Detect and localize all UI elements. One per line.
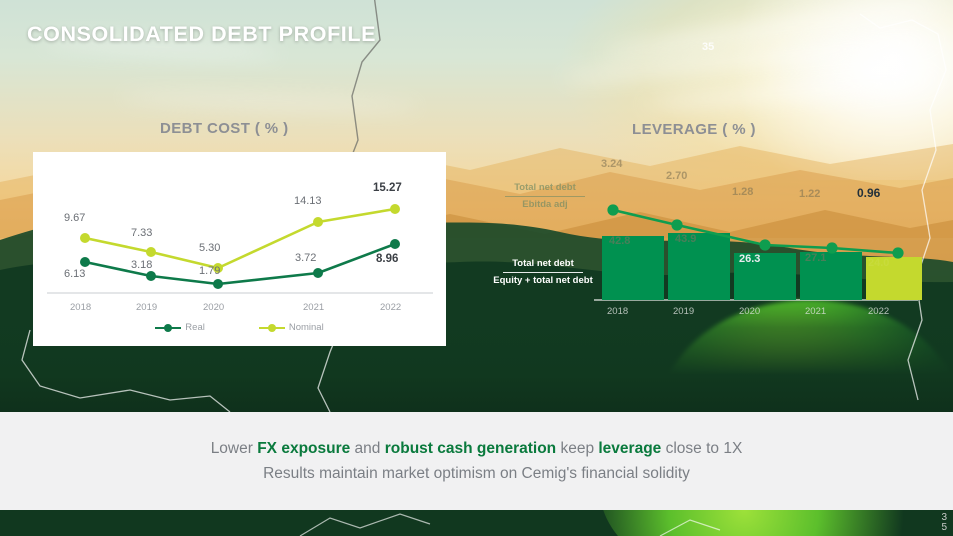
- right-chart-title: LEVERAGE ( % ): [632, 121, 756, 138]
- x-tick-2019: 2019: [136, 302, 157, 313]
- leverage-bar-value-2021: 27.1: [805, 252, 826, 264]
- x-tick-2021: 2021: [303, 302, 324, 313]
- bottom-strip: 35: [0, 510, 953, 536]
- leverage-line-value-2019: 2.70: [666, 170, 687, 182]
- legend-swatch-real: [155, 327, 181, 329]
- leverage-bar-value-2020: 26.3: [739, 253, 760, 265]
- page-number-top: 35: [702, 41, 714, 53]
- nominal-value-2019: 7.33: [131, 227, 152, 239]
- leverage-line-value-2020: 1.28: [732, 186, 753, 198]
- debt-cost-legend: Real Nominal: [33, 322, 446, 333]
- page-title: CONSOLIDATED DEBT PROFILE: [27, 22, 376, 47]
- caption-band: Lower FX exposure and robust cash genera…: [0, 412, 953, 510]
- fraction-bar-icon: [505, 196, 585, 197]
- leverage-line-value-2022: 0.96: [857, 186, 880, 200]
- legend-swatch-nominal: [259, 327, 285, 329]
- page-number-bottom: 35: [941, 513, 947, 533]
- leverage-bar-value-2022: 24.0: [868, 257, 889, 269]
- x-tick-2018: 2018: [70, 302, 91, 313]
- debt-cost-chart-card: 9.67 7.33 5.30 14.13 15.27 6.13 3.18 1.7…: [33, 152, 446, 346]
- leverage-line-axis-label: Total net debt Ebitda adj: [495, 182, 595, 211]
- real-value-2022: 8.96: [376, 253, 398, 265]
- left-chart-title: DEBT COST ( % ): [160, 120, 289, 137]
- real-value-2019: 3.18: [131, 259, 152, 271]
- leverage-bar-axis-numerator: Total net debt: [491, 258, 595, 270]
- caption-line-1: Lower FX exposure and robust cash genera…: [211, 440, 743, 458]
- caption-l1-a: Lower: [211, 440, 258, 457]
- caption-l1-leverage: leverage: [598, 440, 661, 457]
- real-value-2021: 3.72: [295, 252, 316, 264]
- legend-item-real[interactable]: Real: [155, 322, 205, 333]
- fraction-bar-icon: [503, 272, 583, 273]
- x-tick-2022: 2022: [380, 302, 401, 313]
- legend-label-nominal: Nominal: [289, 322, 324, 333]
- nominal-value-2018: 9.67: [64, 212, 85, 224]
- leverage-line-axis-numerator: Total net debt: [495, 182, 595, 194]
- legend-label-real: Real: [185, 322, 205, 333]
- caption-l1-c: and: [350, 440, 384, 457]
- caption-line-2: Results maintain market optimism on Cemi…: [263, 465, 690, 483]
- leverage-x-tick-2021: 2021: [805, 306, 826, 317]
- caption-l1-g: close to 1X: [661, 440, 742, 457]
- leverage-x-tick-2020: 2020: [739, 306, 760, 317]
- leverage-x-tick-2018: 2018: [607, 306, 628, 317]
- caption-l1-e: keep: [556, 440, 598, 457]
- leverage-line-value-2018: 3.24: [601, 158, 622, 170]
- slide-root: CONSOLIDATED DEBT PROFILE 35 DEBT COST (…: [0, 0, 953, 536]
- real-value-2020: 1.79: [199, 265, 220, 277]
- leverage-bar-axis-label: Total net debt Equity + total net debt: [491, 258, 595, 287]
- nominal-value-2021: 14.13: [294, 195, 322, 207]
- leverage-chart: [490, 140, 930, 330]
- caption-l1-fx: FX exposure: [257, 440, 350, 457]
- real-value-2018: 6.13: [64, 268, 85, 280]
- leverage-bar-axis-denominator: Equity + total net debt: [491, 275, 595, 287]
- legend-item-nominal[interactable]: Nominal: [259, 322, 324, 333]
- caption-l1-cash: robust cash generation: [385, 440, 556, 457]
- leverage-x-tick-2022: 2022: [868, 306, 889, 317]
- leverage-x-tick-2019: 2019: [673, 306, 694, 317]
- leverage-line-axis-denominator: Ebitda adj: [495, 199, 595, 211]
- x-tick-2020: 2020: [203, 302, 224, 313]
- leverage-bar-value-2019: 43.9: [675, 233, 696, 245]
- leverage-bar-value-2018: 42.8: [609, 235, 630, 247]
- leverage-line-value-2021: 1.22: [799, 188, 820, 200]
- nominal-value-2020: 5.30: [199, 242, 220, 254]
- nominal-value-2022: 15.27: [373, 182, 402, 194]
